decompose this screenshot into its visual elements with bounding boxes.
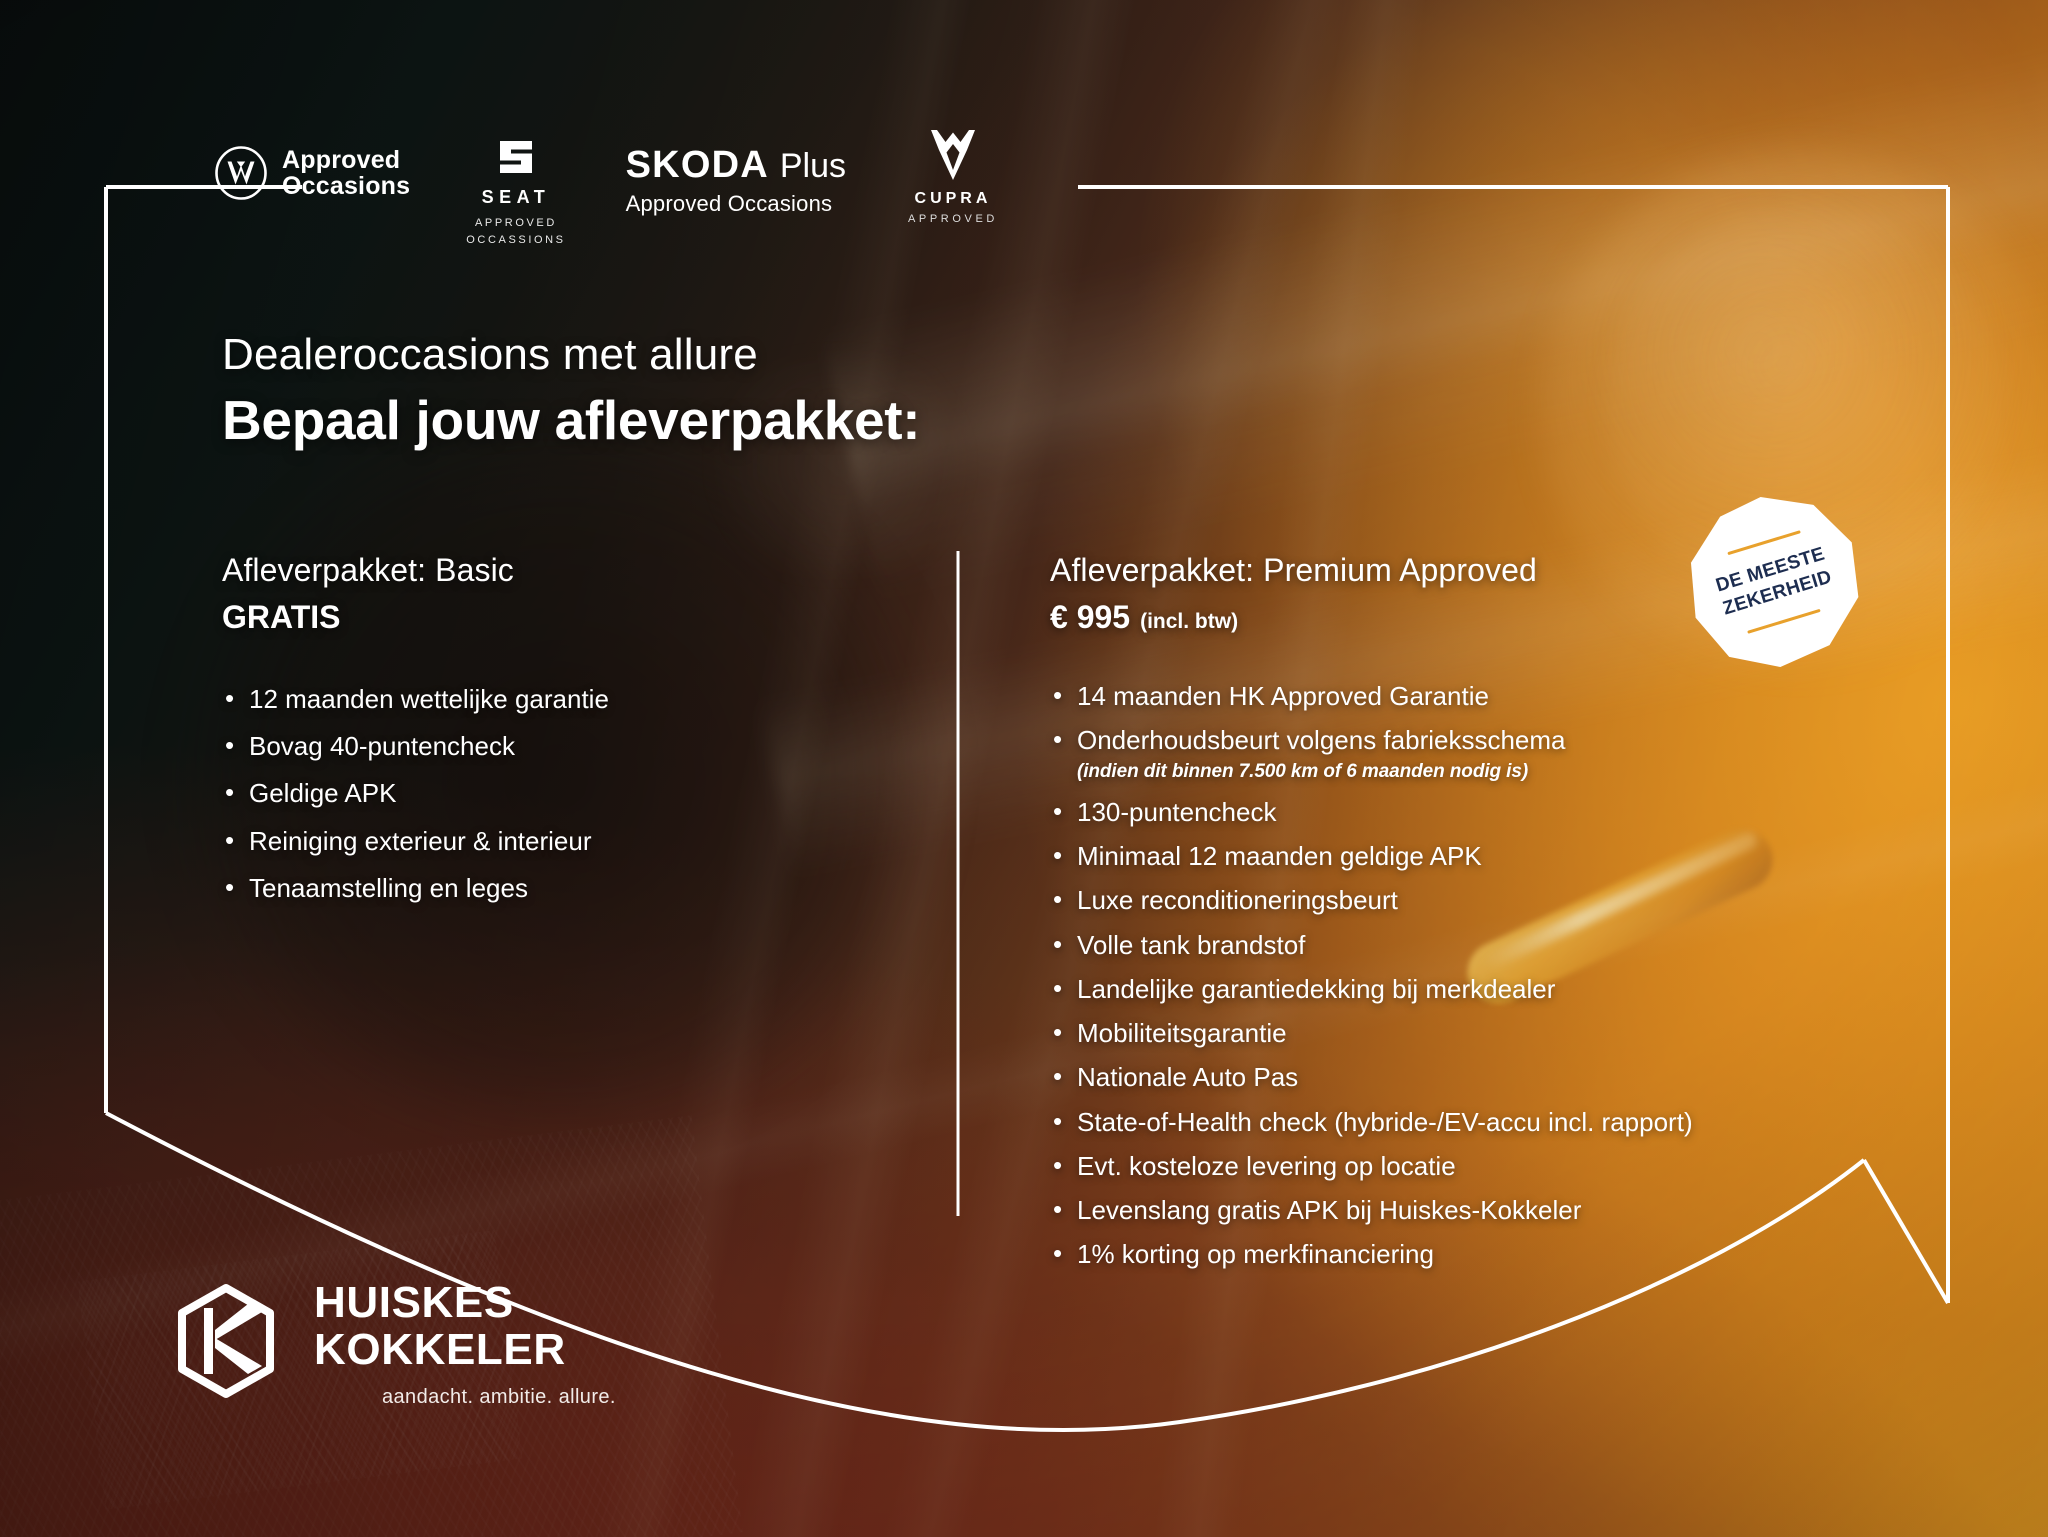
feature-text: 130-puntencheck bbox=[1077, 797, 1276, 827]
huiskes-kokkeler-monogram-icon bbox=[174, 1282, 278, 1400]
kicker-text: Dealeroccasions met allure bbox=[222, 330, 758, 380]
seat-logo-word: SEAT bbox=[482, 187, 551, 208]
feature-list-premium: 14 maanden HK Approved Garantie Onderhou… bbox=[1050, 680, 1880, 1271]
feature-text: Landelijke garantiedekking bij merkdeale… bbox=[1077, 974, 1555, 1004]
volkswagen-logo-icon bbox=[214, 146, 268, 200]
package-title-basic: Afleverpakket: Basic bbox=[222, 552, 902, 589]
brand-logo-cupra: CUPRA APPROVED bbox=[908, 126, 998, 225]
seat-logo-sub: APPROVED OCCASSIONS bbox=[466, 215, 565, 248]
feature-text: Tenaamstelling en leges bbox=[249, 873, 528, 903]
list-item: Reiniging exterieur & interieur bbox=[222, 825, 902, 857]
page-title: Bepaal jouw afleverpakket: bbox=[222, 388, 920, 452]
package-price-value-premium: € 995 bbox=[1050, 599, 1130, 635]
feature-text: Mobiliteitsgarantie bbox=[1077, 1018, 1287, 1048]
skoda-logo-plus: Plus bbox=[780, 147, 846, 186]
seat-logo-sub2: OCCASSIONS bbox=[466, 232, 565, 249]
feature-text: Minimaal 12 maanden geldige APK bbox=[1077, 841, 1482, 871]
package-price-basic: GRATIS bbox=[222, 599, 902, 636]
feature-note: (indien dit binnen 7.500 km of 6 maanden… bbox=[1077, 760, 1880, 784]
list-item: 14 maanden HK Approved Garantie bbox=[1050, 680, 1880, 712]
company-name-line2: KOKKELER bbox=[314, 1327, 616, 1374]
package-price-vat: (incl. btw) bbox=[1140, 610, 1238, 633]
list-item: 130-puntencheck bbox=[1050, 796, 1880, 828]
company-tagline: aandacht. ambitie. allure. bbox=[382, 1386, 616, 1409]
brand-logo-seat: SEAT APPROVED OCCASSIONS bbox=[466, 134, 565, 248]
brand-logo-strip: Approved Occasions SEAT APPROVED OCCASSI… bbox=[214, 140, 998, 250]
skoda-logo-word-row: SKODA Plus bbox=[626, 144, 846, 187]
list-item: Tenaamstelling en leges bbox=[222, 872, 902, 904]
feature-text: State-of-Health check (hybride-/EV-accu … bbox=[1077, 1107, 1693, 1137]
skoda-logo-word: SKODA bbox=[626, 144, 769, 187]
feature-text: Volle tank brandstof bbox=[1077, 930, 1305, 960]
seat-logo-sub1: APPROVED bbox=[466, 215, 565, 232]
package-price-value-basic: GRATIS bbox=[222, 599, 341, 635]
company-logo: HUISKES KOKKELER aandacht. ambitie. allu… bbox=[174, 1280, 616, 1409]
feature-text: Evt. kosteloze levering op locatie bbox=[1077, 1151, 1456, 1181]
list-item: Landelijke garantiedekking bij merkdeale… bbox=[1050, 973, 1880, 1005]
feature-text: 1% korting op merkfinanciering bbox=[1077, 1239, 1434, 1269]
feature-list-basic: 12 maanden wettelijke garantie Bovag 40-… bbox=[222, 683, 902, 904]
list-item: Minimaal 12 maanden geldige APK bbox=[1050, 840, 1880, 872]
brand-logo-vw: Approved Occasions bbox=[214, 146, 410, 200]
status-badge: DE MEESTE ZEKERHEID bbox=[1672, 480, 1876, 684]
feature-text: 12 maanden wettelijke garantie bbox=[249, 684, 609, 714]
vw-logo-text: Approved Occasions bbox=[282, 147, 410, 199]
feature-text: 14 maanden HK Approved Garantie bbox=[1077, 681, 1489, 711]
brand-logo-skoda: SKODA Plus Approved Occasions bbox=[626, 144, 846, 217]
list-item: Levenslang gratis APK bij Huiskes-Kokkel… bbox=[1050, 1194, 1880, 1226]
feature-text: Nationale Auto Pas bbox=[1077, 1062, 1298, 1092]
feature-text: Bovag 40-puntencheck bbox=[249, 731, 515, 761]
feature-text: Reiniging exterieur & interieur bbox=[249, 826, 592, 856]
list-item: Mobiliteitsgarantie bbox=[1050, 1017, 1880, 1049]
list-item: State-of-Health check (hybride-/EV-accu … bbox=[1050, 1106, 1880, 1138]
feature-text: Luxe reconditioneringsbeurt bbox=[1077, 885, 1398, 915]
list-item: Geldige APK bbox=[222, 777, 902, 809]
list-item: Bovag 40-puntencheck bbox=[222, 730, 902, 762]
feature-text: Geldige APK bbox=[249, 778, 396, 808]
list-item: Volle tank brandstof bbox=[1050, 929, 1880, 961]
list-item: Luxe reconditioneringsbeurt bbox=[1050, 884, 1880, 916]
feature-text: Levenslang gratis APK bij Huiskes-Kokkel… bbox=[1077, 1195, 1581, 1225]
vw-logo-line2: Occasions bbox=[282, 173, 410, 199]
cupra-logo-sub: APPROVED bbox=[908, 213, 998, 225]
badge-rule-bottom bbox=[1747, 608, 1821, 633]
package-column-basic: Afleverpakket: Basic GRATIS 12 maanden w… bbox=[222, 552, 902, 919]
list-item: Nationale Auto Pas bbox=[1050, 1061, 1880, 1093]
seat-logo-icon bbox=[495, 134, 537, 180]
badge-text: DE MEESTE ZEKERHEID bbox=[1713, 543, 1834, 620]
cupra-logo-icon bbox=[925, 126, 981, 184]
list-item: 12 maanden wettelijke garantie bbox=[222, 683, 902, 715]
skoda-logo-sub: Approved Occasions bbox=[626, 191, 833, 217]
poster-canvas: Approved Occasions SEAT APPROVED OCCASSI… bbox=[0, 0, 2048, 1537]
company-logo-text: HUISKES KOKKELER aandacht. ambitie. allu… bbox=[314, 1280, 616, 1409]
vw-logo-line1: Approved bbox=[282, 147, 410, 173]
list-item: Onderhoudsbeurt volgens fabrieksschema (… bbox=[1050, 724, 1880, 784]
feature-text: Onderhoudsbeurt volgens fabrieksschema bbox=[1077, 725, 1566, 755]
list-item: Evt. kosteloze levering op locatie bbox=[1050, 1150, 1880, 1182]
cupra-logo-word: CUPRA bbox=[915, 190, 992, 208]
company-name-line1: HUISKES bbox=[314, 1280, 616, 1327]
list-item: 1% korting op merkfinanciering bbox=[1050, 1238, 1880, 1270]
